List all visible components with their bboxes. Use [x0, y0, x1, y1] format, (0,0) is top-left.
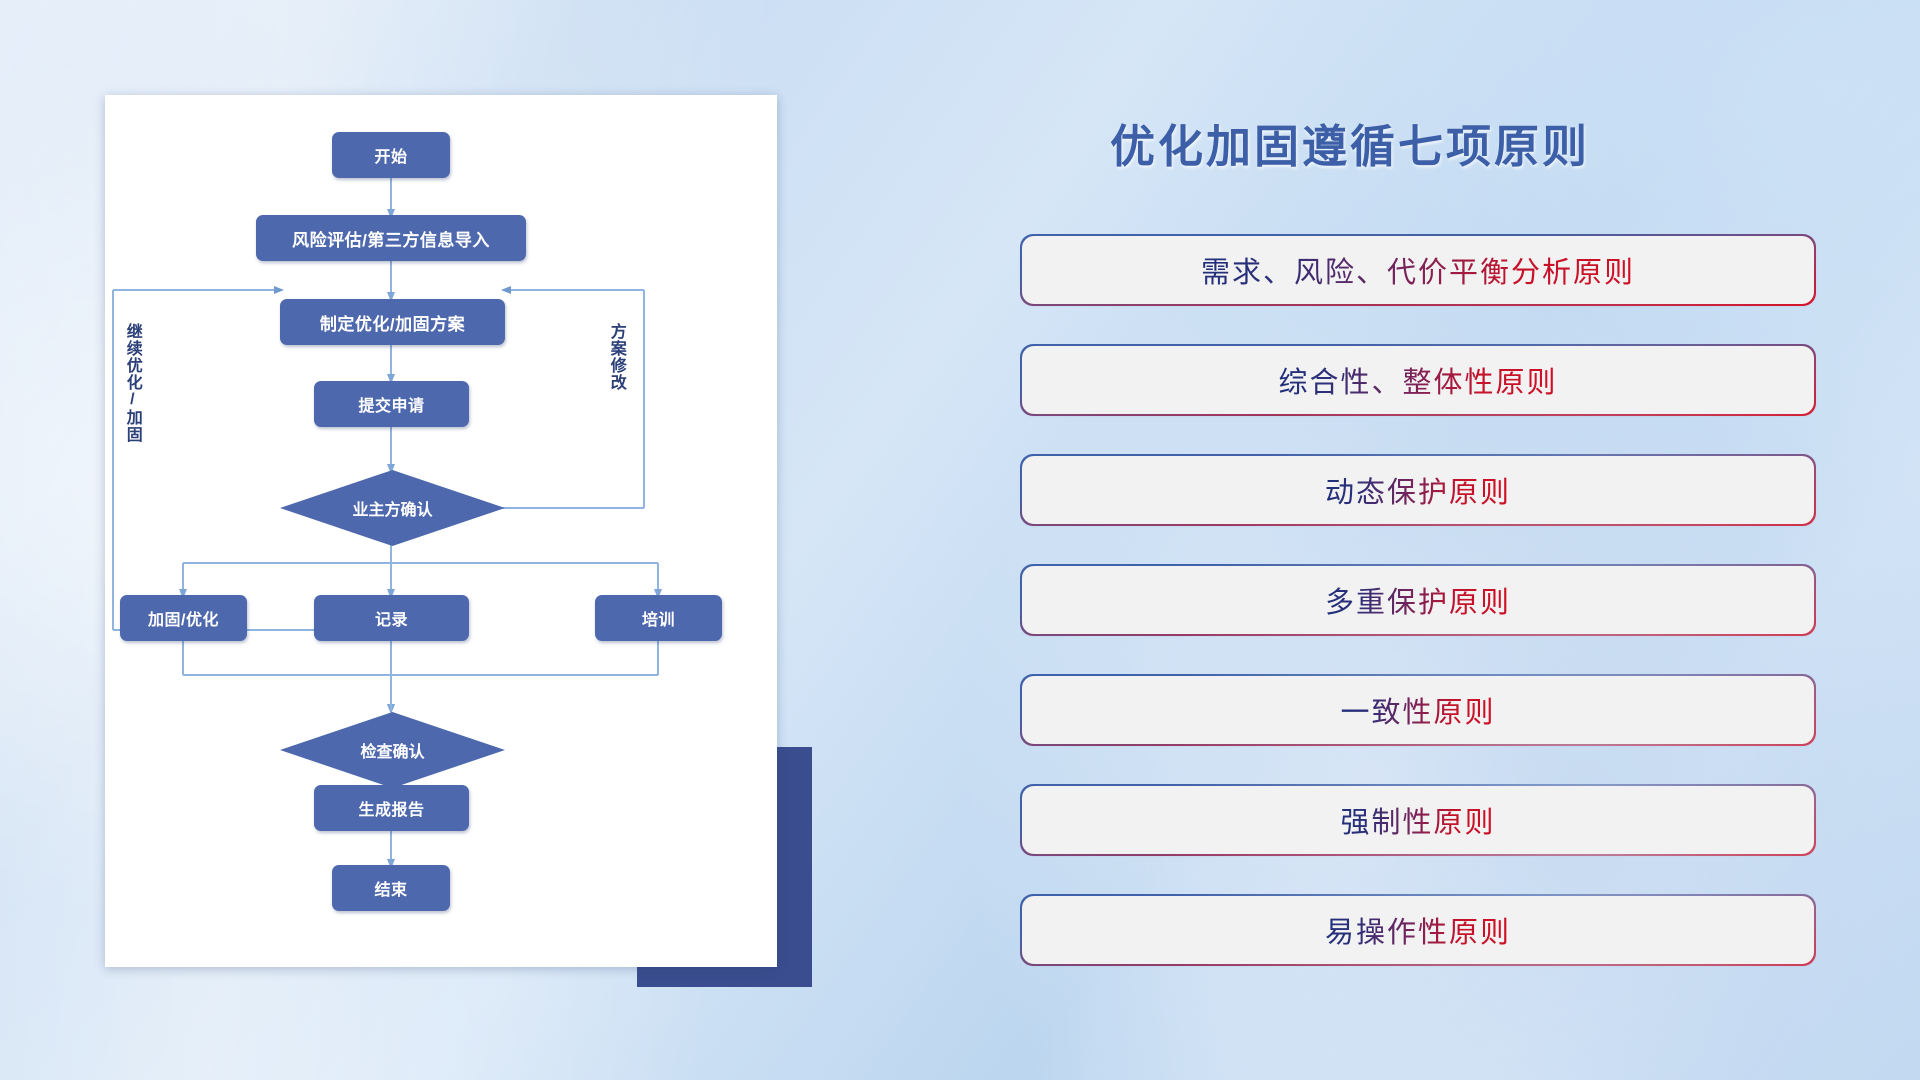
principle-label: 易操作性原则 — [1325, 909, 1511, 951]
principle-label: 一致性原则 — [1340, 689, 1495, 731]
flow-node-label: 记录 — [375, 606, 408, 630]
principle-item-7[interactable]: 易操作性原则 — [1022, 896, 1814, 964]
principle-label: 综合性、整体性原则 — [1278, 359, 1557, 401]
flow-node-label: 制定优化/加固方案 — [320, 310, 465, 335]
flow-node-owner-confirm[interactable]: 业主方确认 — [280, 470, 505, 546]
flow-node-record[interactable]: 记录 — [314, 595, 469, 641]
flow-node-assess[interactable]: 风险评估/第三方信息导入 — [256, 215, 526, 261]
flow-node-reinforce[interactable]: 加固/优化 — [120, 595, 247, 641]
principle-label: 强制性原则 — [1340, 799, 1495, 841]
principle-label: 动态保护原则 — [1325, 469, 1511, 511]
principle-item-3[interactable]: 动态保护原则 — [1022, 456, 1814, 524]
principle-item-1[interactable]: 需求、风险、代价平衡分析原则 — [1022, 236, 1814, 304]
flow-node-report[interactable]: 生成报告 — [314, 785, 469, 831]
panel-title: 优化加固遵循七项原则 — [1000, 110, 1700, 175]
edge-label-continue-optimize: 继续优化/加固 — [123, 323, 140, 443]
flowchart-card: 开始 风险评估/第三方信息导入 制定优化/加固方案 提交申请 业主方确认 加固/… — [105, 95, 777, 967]
flow-node-label: 生成报告 — [358, 796, 424, 820]
flow-node-submit[interactable]: 提交申请 — [314, 381, 469, 427]
principle-item-4[interactable]: 多重保护原则 — [1022, 566, 1814, 634]
flow-node-start[interactable]: 开始 — [332, 132, 450, 178]
flow-node-label: 业主方确认 — [352, 496, 432, 520]
flow-node-label: 提交申请 — [358, 392, 424, 416]
slide-canvas: 开始 风险评估/第三方信息导入 制定优化/加固方案 提交申请 业主方确认 加固/… — [0, 0, 1920, 1080]
principle-list: 需求、风险、代价平衡分析原则 综合性、整体性原则 动态保护原则 多重保护原则 一… — [1022, 236, 1814, 1006]
flow-node-label: 风险评估/第三方信息导入 — [292, 226, 490, 251]
edge-label-plan-revision: 方案修改 — [607, 323, 624, 391]
flow-node-check-confirm[interactable]: 检查确认 — [280, 712, 505, 788]
flow-node-label: 培训 — [642, 606, 675, 630]
flow-node-training[interactable]: 培训 — [595, 595, 722, 641]
principle-label: 多重保护原则 — [1325, 579, 1511, 621]
flow-node-label: 检查确认 — [360, 738, 424, 762]
principle-item-6[interactable]: 强制性原则 — [1022, 786, 1814, 854]
flow-node-label: 开始 — [374, 143, 407, 167]
flow-node-end[interactable]: 结束 — [332, 865, 450, 911]
principle-item-5[interactable]: 一致性原则 — [1022, 676, 1814, 744]
principle-label: 需求、风险、代价平衡分析原则 — [1201, 249, 1635, 291]
principle-item-2[interactable]: 综合性、整体性原则 — [1022, 346, 1814, 414]
flowchart: 开始 风险评估/第三方信息导入 制定优化/加固方案 提交申请 业主方确认 加固/… — [105, 95, 777, 967]
flow-node-label: 加固/优化 — [148, 606, 219, 630]
flow-node-plan[interactable]: 制定优化/加固方案 — [280, 299, 505, 345]
flow-node-label: 结束 — [374, 876, 407, 900]
